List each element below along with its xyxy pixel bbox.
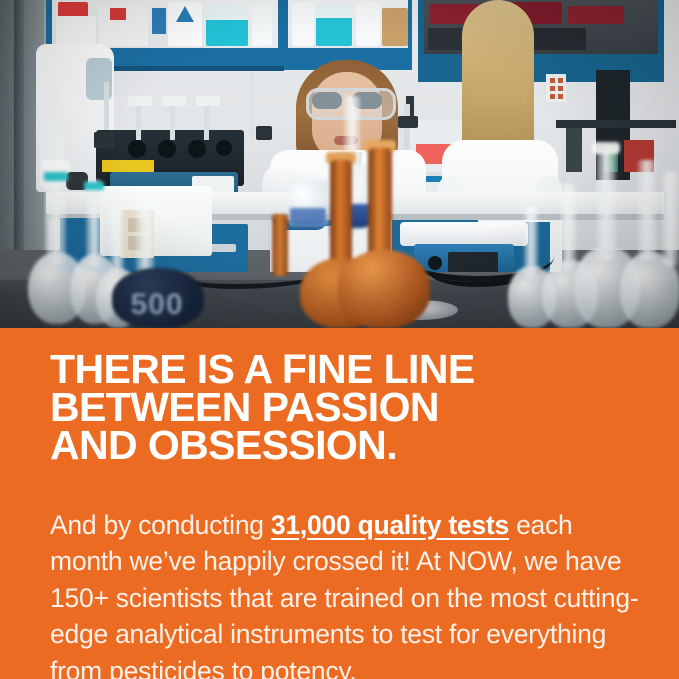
body-copy: And by conducting 31,000 quality tests e… — [50, 507, 640, 679]
page-title: THERE IS A FINE LINE BETWEEN PASSION AND… — [50, 350, 650, 464]
body-lead: And by conducting — [50, 510, 271, 540]
lab-photo: 500 — [0, 0, 679, 328]
photo-vignette — [0, 0, 679, 328]
orange-text-panel: THERE IS A FINE LINE BETWEEN PASSION AND… — [0, 328, 679, 679]
poster: 500 THERE IS A FINE LINE BETWEEN PASSION… — [0, 0, 679, 679]
stat-emphasis: 31,000 quality tests — [271, 510, 509, 540]
